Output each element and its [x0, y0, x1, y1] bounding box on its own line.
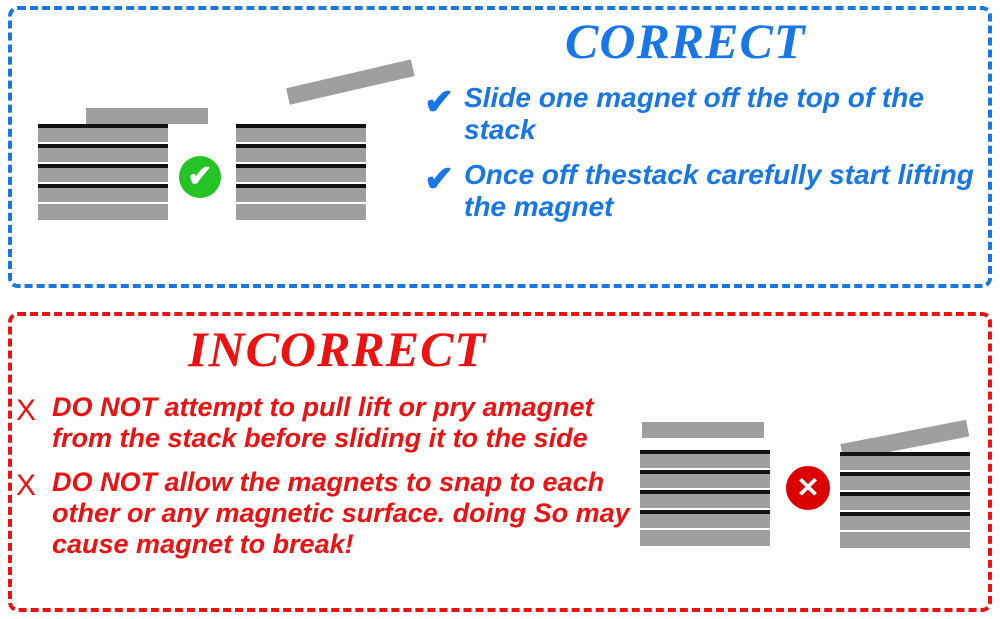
magnet-slab	[236, 124, 366, 142]
magnet-slab	[640, 470, 770, 488]
incorrect-heading: INCORRECT	[188, 320, 486, 378]
list-item: X DO NOT attempt to pull lift or pry ama…	[16, 392, 636, 455]
magnet-slab	[38, 144, 168, 162]
magnet-slab	[236, 144, 366, 162]
incorrect-badge-icon: ✕	[786, 466, 830, 510]
incorrect-bullet-list: X DO NOT attempt to pull lift or pry ama…	[16, 392, 636, 561]
incorrect-bullet-text: DO NOT allow the magnets to snap to each…	[52, 467, 636, 561]
correct-bullet-text: Slide one magnet off the top of the stac…	[464, 82, 984, 147]
magnet-base-slab	[236, 204, 366, 220]
magnet-slid-off	[86, 108, 208, 124]
correct-bullet-text: Once off thestack carefully start liftin…	[464, 159, 984, 224]
check-icon: ✔	[424, 82, 464, 120]
incorrect-bullet-text: DO NOT attempt to pull lift or pry amagn…	[52, 392, 636, 455]
magnet-slab	[840, 472, 970, 490]
magnet-slab	[640, 450, 770, 468]
magnet-slab	[640, 490, 770, 508]
magnet-base-slab	[38, 204, 168, 220]
magnet-base-slab	[640, 530, 770, 546]
list-item: ✔ Slide one magnet off the top of the st…	[424, 82, 984, 147]
magnet-slab	[38, 164, 168, 182]
magnet-slab	[640, 510, 770, 528]
magnet-slab	[236, 184, 366, 202]
correct-badge-icon: ✔	[179, 156, 221, 198]
magnet-slab	[38, 124, 168, 142]
list-item: X DO NOT allow the magnets to snap to ea…	[16, 467, 636, 561]
magnet-base-slab	[840, 532, 970, 548]
magnet-slab	[840, 452, 970, 470]
magnet-slab	[38, 184, 168, 202]
correct-bullet-list: ✔ Slide one magnet off the top of the st…	[424, 82, 984, 224]
magnet-slab	[236, 164, 366, 182]
magnet-pulled-up	[642, 422, 764, 438]
illustration-correct-lift	[236, 82, 426, 220]
magnet-slab	[840, 512, 970, 530]
list-item: ✔ Once off thestack carefully start lift…	[424, 159, 984, 224]
check-icon: ✔	[424, 159, 464, 197]
magnet-slab	[840, 492, 970, 510]
illustration-incorrect-pull	[640, 422, 780, 534]
correct-heading: CORRECT	[565, 12, 805, 70]
x-icon: X	[16, 392, 52, 426]
illustration-incorrect-pry	[840, 420, 1000, 540]
x-icon: X	[16, 467, 52, 501]
